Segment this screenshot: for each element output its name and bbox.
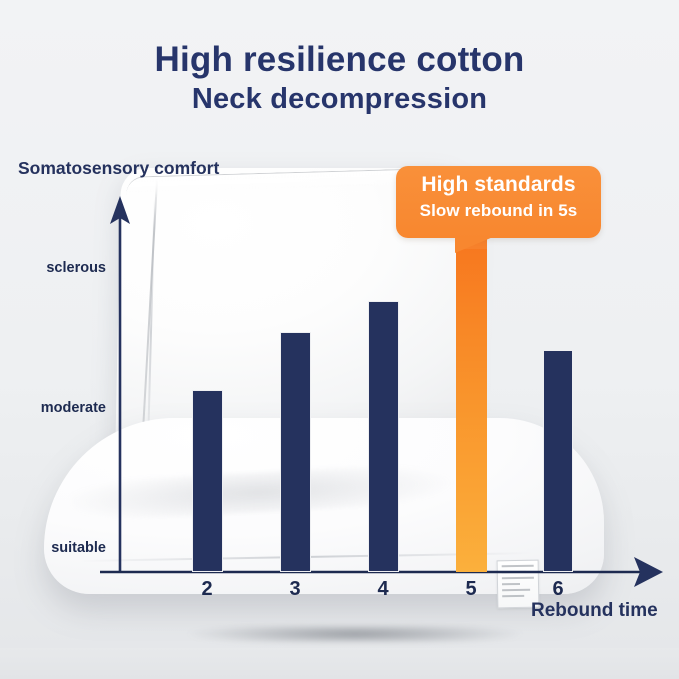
bar-category-4 xyxy=(368,301,399,572)
x-tick-label-5: 5 xyxy=(451,578,491,601)
x-axis-title: Rebound time xyxy=(531,600,658,622)
bar-category-3 xyxy=(280,332,311,572)
infographic-canvas: High resilience cotton Neck decompressio… xyxy=(0,0,679,679)
bar-category-2 xyxy=(192,390,223,572)
callout-tail xyxy=(455,237,493,253)
x-tick-label-6: 6 xyxy=(538,578,578,601)
y-tick-label-suitable: suitable xyxy=(24,540,106,556)
x-tick-label-3: 3 xyxy=(275,578,315,601)
bar-category-6 xyxy=(543,350,573,572)
y-axis-title: Somatosensory comfort xyxy=(18,158,219,179)
x-tick-label-2: 2 xyxy=(187,578,227,601)
y-tick-label-sclerous: sclerous xyxy=(24,260,106,276)
bar-category-5-highlight xyxy=(456,246,487,572)
bar-chart: Somatosensory comfort Rebound time scler… xyxy=(0,0,679,679)
callout-headline: High standards xyxy=(396,171,601,199)
callout-subline: Slow rebound in 5s xyxy=(396,199,601,223)
highlight-callout-bubble: High standards Slow rebound in 5s xyxy=(396,166,601,238)
x-tick-label-4: 4 xyxy=(363,578,403,601)
y-tick-label-moderate: moderate xyxy=(24,400,106,416)
